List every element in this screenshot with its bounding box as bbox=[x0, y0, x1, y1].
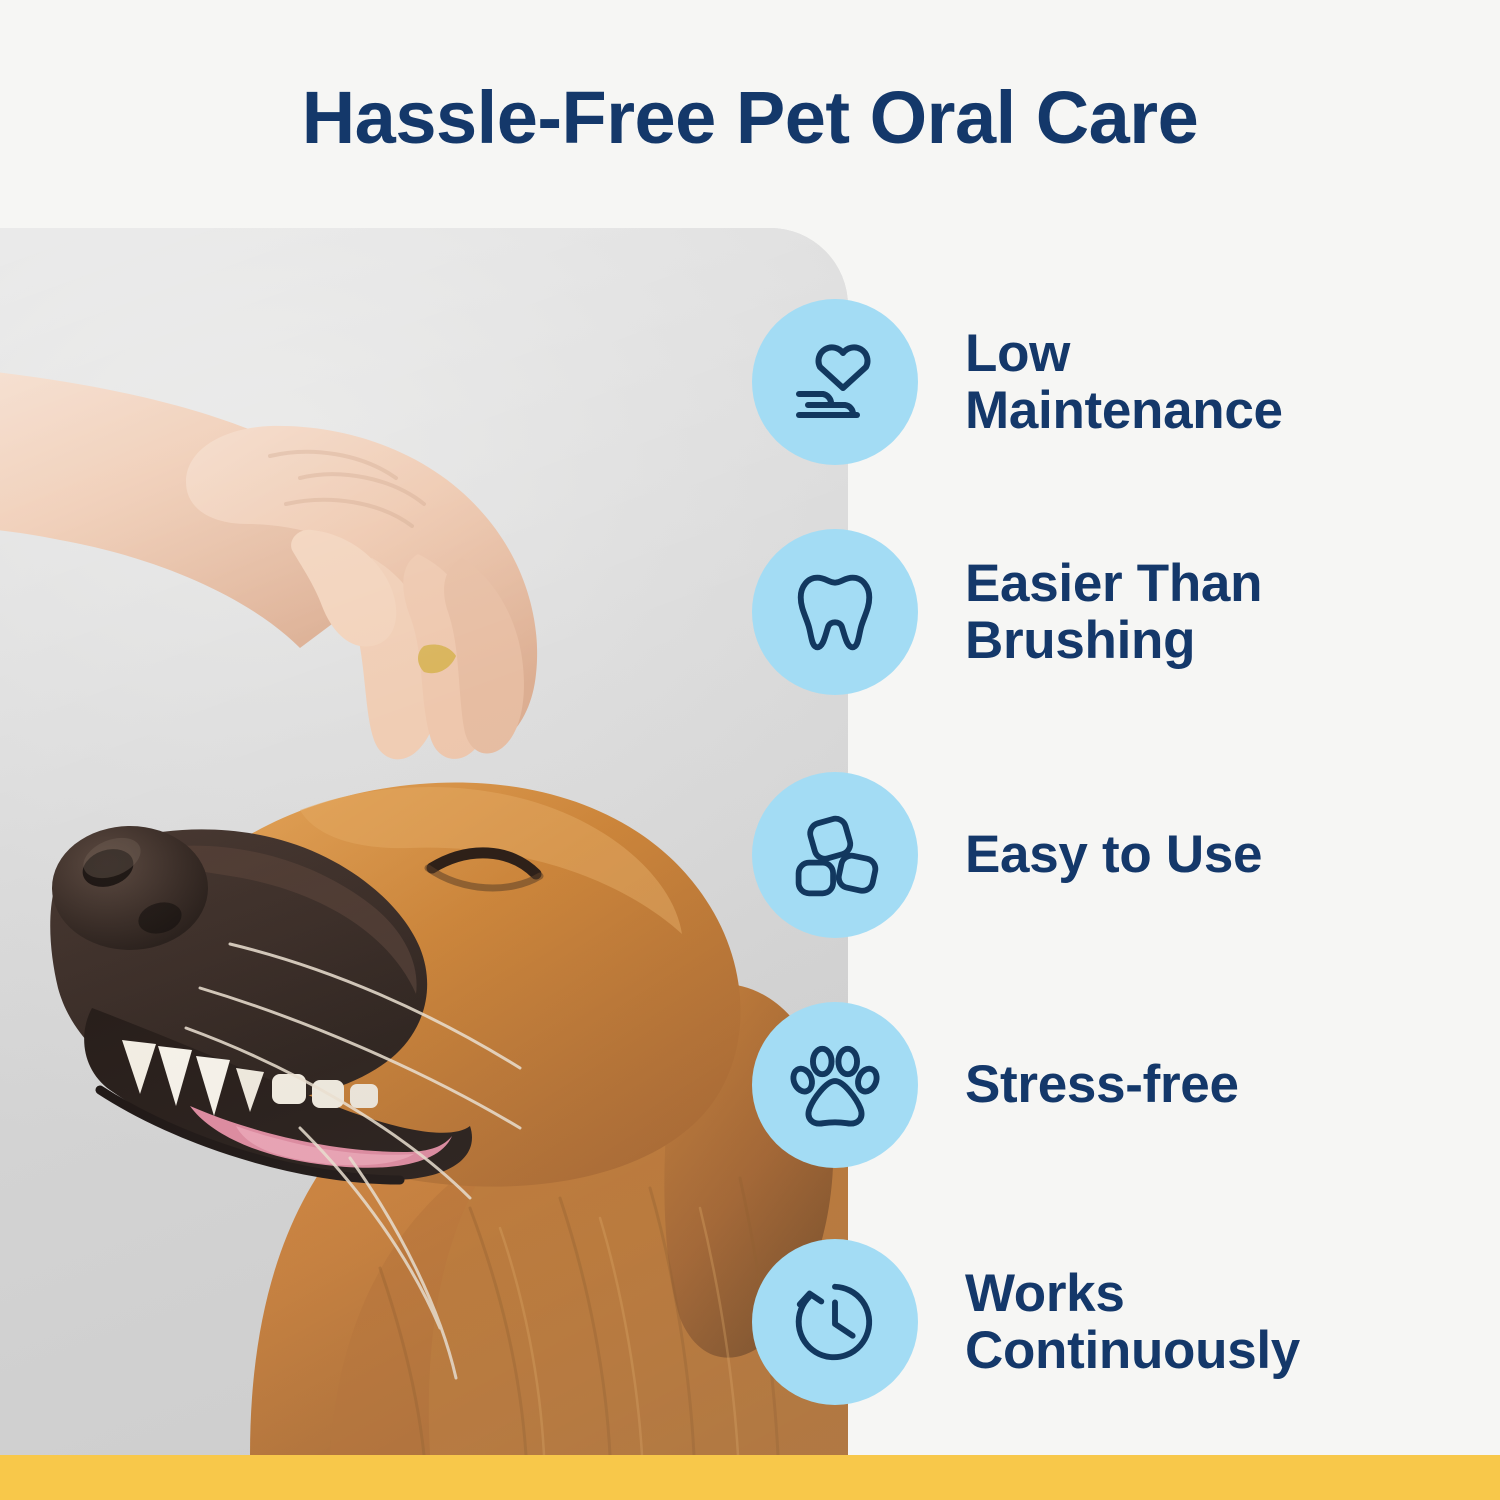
title-bar: Hassle-Free Pet Oral Care bbox=[0, 0, 1500, 228]
feature-label: Stress-free bbox=[965, 1056, 1239, 1113]
bottom-accent-bar bbox=[0, 1455, 1500, 1500]
photo-vignette bbox=[0, 228, 848, 1455]
feature-item-works-continuously: Works Continuously bbox=[752, 1239, 1492, 1405]
page-title: Hassle-Free Pet Oral Care bbox=[302, 81, 1199, 155]
feature-item-easier-than-brushing: Easier Than Brushing bbox=[752, 529, 1492, 695]
feature-item-easy-to-use: Easy to Use bbox=[752, 772, 1492, 938]
feature-label: Low Maintenance bbox=[965, 325, 1395, 439]
feature-label: Works Continuously bbox=[965, 1265, 1395, 1379]
feature-list: Low Maintenance Easier Than Brushing Eas… bbox=[752, 228, 1500, 1455]
feature-icon-badge bbox=[752, 299, 918, 465]
dental-chews-icon bbox=[789, 809, 881, 901]
feature-icon-badge bbox=[752, 772, 918, 938]
feature-item-low-maintenance: Low Maintenance bbox=[752, 299, 1492, 465]
pet-oral-care-infographic: Hassle-Free Pet Oral Care bbox=[0, 0, 1500, 1500]
paw-print-icon bbox=[788, 1038, 882, 1132]
feature-label: Easy to Use bbox=[965, 826, 1262, 883]
feature-icon-badge bbox=[752, 1239, 918, 1405]
feature-label: Easier Than Brushing bbox=[965, 555, 1395, 669]
heart-hand-icon bbox=[787, 334, 883, 430]
clock-refresh-icon bbox=[788, 1275, 882, 1369]
tooth-icon bbox=[788, 565, 882, 659]
feature-item-stress-free: Stress-free bbox=[752, 1002, 1492, 1168]
feature-icon-badge bbox=[752, 1002, 918, 1168]
feature-icon-badge bbox=[752, 529, 918, 695]
dog-photo bbox=[0, 228, 848, 1455]
